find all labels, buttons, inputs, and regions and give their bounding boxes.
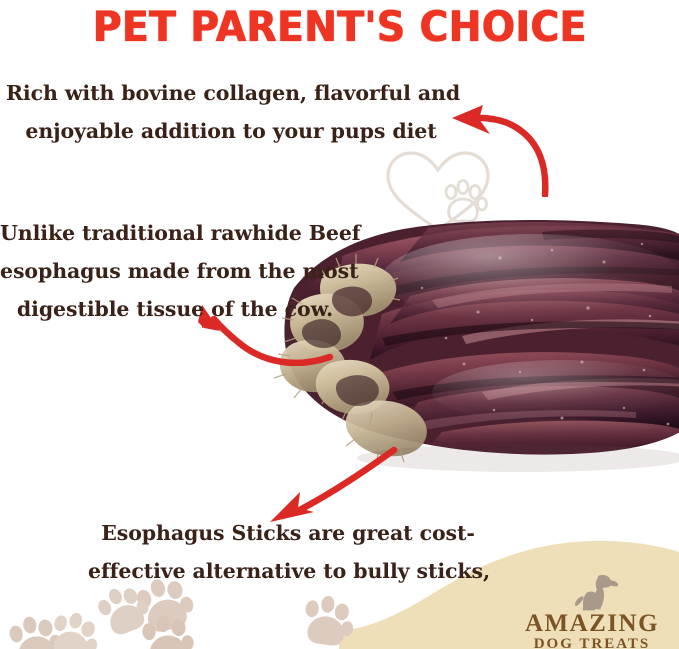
bullet-2-line-3: digestible tissue of the cow. xyxy=(0,290,350,328)
bullet-2-line-1: Unlike traditional rawhide Beef xyxy=(0,214,350,252)
product-infographic: PET PARENT'S CHOICE Rich with bovine col… xyxy=(0,0,679,649)
arrow-to-bullet-1-icon xyxy=(443,92,593,197)
page-title: PET PARENT'S CHOICE xyxy=(24,2,655,51)
bullet-3-line-2: effective alternative to bully sticks, xyxy=(88,552,488,590)
paw-print-icon xyxy=(296,596,358,649)
bullet-1-line-1: Rich with bovine collagen, flavorful and xyxy=(6,74,456,112)
bullet-1-line-2: enjoyable addition to your pups diet xyxy=(6,112,456,150)
logo-brand-subtitle: DOG TREATS xyxy=(508,636,676,649)
bullet-3-line-1: Esophagus Sticks are great cost- xyxy=(88,514,488,552)
bullet-2-line-2: esophagus made from the most xyxy=(0,252,350,290)
bullet-text-1: Rich with bovine collagen, flavorful and… xyxy=(6,74,456,150)
sitting-dog-icon xyxy=(564,572,620,612)
bullet-text-2: Unlike traditional rawhide Beef esophagu… xyxy=(0,214,350,328)
brand-logo: AMAZING DOG TREATS xyxy=(508,572,676,648)
paw-print-icon xyxy=(44,612,102,649)
bullet-text-3: Esophagus Sticks are great cost- effecti… xyxy=(88,514,488,590)
logo-brand-name: AMAZING xyxy=(508,611,676,636)
paw-print-icon xyxy=(95,586,153,640)
